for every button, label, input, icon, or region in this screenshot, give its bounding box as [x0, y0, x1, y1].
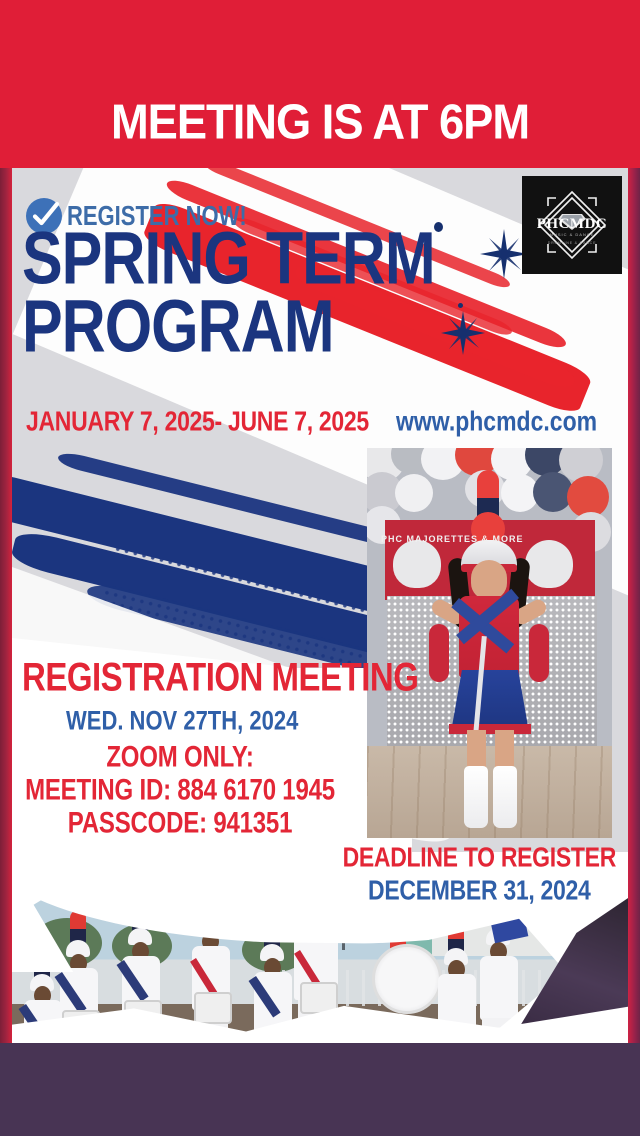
- flyer-screen: MEETING IS AT 6PM: [0, 0, 640, 1136]
- zoom-only-label: ZOOM ONLY:: [0, 743, 360, 772]
- zoom-meeting-id[interactable]: MEETING ID: 884 6170 1945: [0, 776, 360, 805]
- zoom-details: ZOOM ONLY: MEETING ID: 884 6170 1945 PAS…: [0, 746, 360, 845]
- navy-splatter-dot: [434, 222, 443, 232]
- zoom-passcode[interactable]: PASSCODE: 941351: [0, 809, 360, 838]
- right-border-strip: [628, 168, 640, 1043]
- svg-text:DRUMLINE & DANCE: DRUMLINE & DANCE: [548, 241, 597, 245]
- title-line-2: PROGRAM: [22, 292, 435, 360]
- bottom-purple-banner: [0, 1043, 640, 1136]
- navy-splatter-dot: [458, 303, 463, 308]
- zebra-decoration: [525, 540, 573, 588]
- deadline-title: DEADLINE TO REGISTER: [343, 843, 616, 871]
- drum-major-photo: PHC MAJORETTES & MORE: [367, 448, 612, 838]
- zebra-decoration: [393, 540, 441, 588]
- page-title: SPRING TERM PROGRAM: [22, 230, 435, 366]
- backdrop-caption: PHC MAJORETTES & MORE: [381, 534, 524, 544]
- navy-starburst-icon: [440, 310, 486, 360]
- svg-text:MUSIC & DANCE: MUSIC & DANCE: [550, 232, 595, 237]
- website-url[interactable]: www.phcmdc.com: [396, 405, 597, 438]
- headline-meeting-time: MEETING IS AT 6PM: [0, 98, 640, 147]
- program-date-range: JANUARY 7, 2025- JUNE 7, 2025: [26, 405, 369, 438]
- registration-meeting-date: WED. NOV 27TH, 2024: [66, 705, 298, 737]
- wood-floor: [367, 746, 612, 838]
- svg-text:PHCMDC: PHCMDC: [537, 216, 608, 232]
- title-line-1: SPRING TERM: [22, 224, 435, 292]
- poster-body: ✧ ✧ ✧ ✧ ✧ ✧ ✧ ✧ ✧ ✧ ✧ REGISTER NOW! SPRI…: [0, 168, 640, 1043]
- registration-meeting-title: REGISTRATION MEETING: [22, 654, 418, 700]
- top-red-banner: MEETING IS AT 6PM: [0, 0, 640, 168]
- left-border-strip: [0, 168, 12, 1043]
- deadline-date: DECEMBER 31, 2024: [343, 876, 616, 904]
- deadline-block: DEADLINE TO REGISTER DECEMBER 31, 2024: [343, 846, 616, 902]
- phcmdc-logo: PHCMDC MUSIC & DANCE DRUMLINE & DANCE: [522, 176, 622, 274]
